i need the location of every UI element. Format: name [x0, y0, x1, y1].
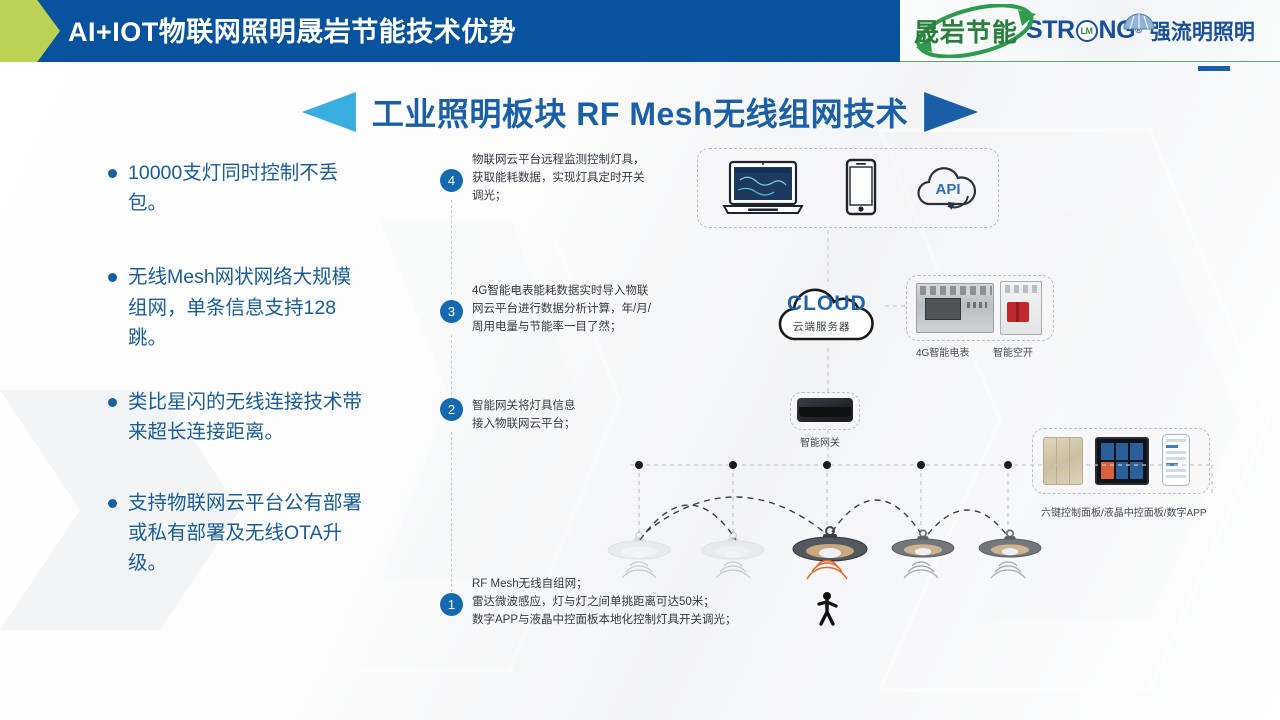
step-description: 智能网关将灯具信息 接入物联网云平台； — [472, 398, 576, 434]
smart-meter-icon — [916, 283, 994, 333]
bullet-text: 无线Mesh网状网络大规模组网，单条信息支持128跳。 — [128, 262, 368, 353]
six-key-switch-icon — [1043, 437, 1083, 485]
person-icon — [816, 592, 838, 626]
cloud-title: CLOUD — [787, 292, 867, 316]
list-item: 类比星闪的无线连接技术带来超长连接距离。 — [108, 387, 368, 447]
caption-smart-breaker: 智能空开 — [993, 344, 1033, 359]
header-bar: AI+IOT物联网照明晟岩节能技术优势 — [0, 0, 900, 62]
bullet-dot-icon — [108, 398, 117, 407]
step-description: RF Mesh无线自组网； 雷达微波感应，灯与灯之间单挑距离可达50米； 数字A… — [472, 576, 737, 629]
header-chevron-icon — [0, 0, 60, 62]
bullet-text: 支持物联网云平台公有部署或私有部署及无线OTA升级。 — [128, 488, 368, 579]
logo-chinese-brand: 晟岩节能 — [914, 13, 1018, 49]
api-label: API — [935, 181, 960, 198]
lcd-control-panel-icon — [1095, 437, 1149, 485]
smart-breaker-icon — [1000, 281, 1042, 335]
list-item: 10000支灯同时控制不丢包。 — [108, 158, 368, 218]
bullet-dot-icon — [108, 169, 117, 178]
feature-bullet-list: 10000支灯同时控制不丢包。 无线Mesh网状网络大规模组网，单条信息支持12… — [108, 158, 368, 618]
step-number-badge: 2 — [440, 398, 463, 421]
triangle-right-icon — [924, 92, 978, 132]
step-item-2: 2 智能网关将灯具信息 接入物联网云平台； — [440, 398, 576, 434]
smartphone-icon — [845, 158, 877, 216]
bullet-text: 类比星闪的无线连接技术带来超长连接距离。 — [128, 387, 368, 447]
page-title: AI+IOT物联网照明晟岩节能技术优势 — [68, 10, 516, 49]
brand-logo: 晟岩节能 STRLMNG® 强流明照明 — [900, 0, 1280, 62]
logo-chinese-sub: 强流明照明 — [1150, 16, 1255, 46]
highbay-lamp-off — [602, 530, 676, 570]
api-cloud-icon: API — [912, 162, 984, 214]
step-description: 物联网云平台远程监测控制灯具， 获取能耗数据，实现灯具定时开关 调光； — [472, 152, 645, 205]
bullet-dot-icon — [108, 273, 117, 282]
list-item: 支持物联网云平台公有部署或私有部署及无线OTA升级。 — [108, 488, 368, 579]
step-connector-line — [451, 200, 452, 295]
step-connector-line — [451, 432, 452, 592]
app-phone-icon — [1162, 434, 1190, 486]
step-number-badge: 1 — [440, 593, 463, 616]
laptop-icon — [722, 160, 804, 216]
fan-icon — [1122, 12, 1156, 30]
logo-strong-wordmark: STRLMNG® — [1026, 16, 1142, 45]
smart-gateway-icon — [797, 398, 853, 422]
caption-control-panels: 六键控制面板/液晶中控面板/数字APP — [1041, 504, 1207, 519]
step-description: 4G智能电表能耗数据实时导入物联 网云平台进行数据分析计算，年/月/ 周用电量与… — [472, 283, 651, 336]
section-title-row: 工业照明板块 RF Mesh无线组网技术 — [240, 86, 1040, 138]
section-title: 工业照明板块 RF Mesh无线组网技术 — [372, 89, 908, 135]
list-item: 无线Mesh网状网络大规模组网，单条信息支持128跳。 — [108, 262, 368, 353]
cloud-subtitle: 云端服务器 — [793, 319, 851, 334]
step-item-4: 4 物联网云平台远程监测控制灯具， 获取能耗数据，实现灯具定时开关 调光； — [440, 152, 645, 205]
highbay-lamp-active — [790, 525, 870, 571]
step-number-badge: 4 — [440, 169, 463, 192]
bullet-dot-icon — [108, 499, 117, 508]
header-accent-bar — [1198, 66, 1230, 71]
slide-canvas: AI+IOT物联网照明晟岩节能技术优势 晟岩节能 STRLMNG® 强流明照明 … — [0, 0, 1280, 720]
highbay-lamp — [886, 528, 960, 568]
caption-gateway: 智能网关 — [800, 434, 840, 449]
step-item-3: 3 4G智能电表能耗数据实时导入物联 网云平台进行数据分析计算，年/月/ 周用电… — [440, 283, 651, 336]
bullet-text: 10000支灯同时控制不丢包。 — [128, 158, 368, 218]
logo-lm-badge: LM — [1076, 20, 1098, 42]
highbay-lamp — [973, 528, 1047, 568]
triangle-left-icon — [302, 92, 356, 132]
highbay-lamp-off — [696, 530, 770, 570]
step-item-1: 1 RF Mesh无线自组网； 雷达微波感应，灯与灯之间单挑距离可达50米； 数… — [440, 576, 737, 629]
caption-smart-meter: 4G智能电表 — [916, 344, 969, 359]
step-number-badge: 3 — [440, 300, 463, 323]
